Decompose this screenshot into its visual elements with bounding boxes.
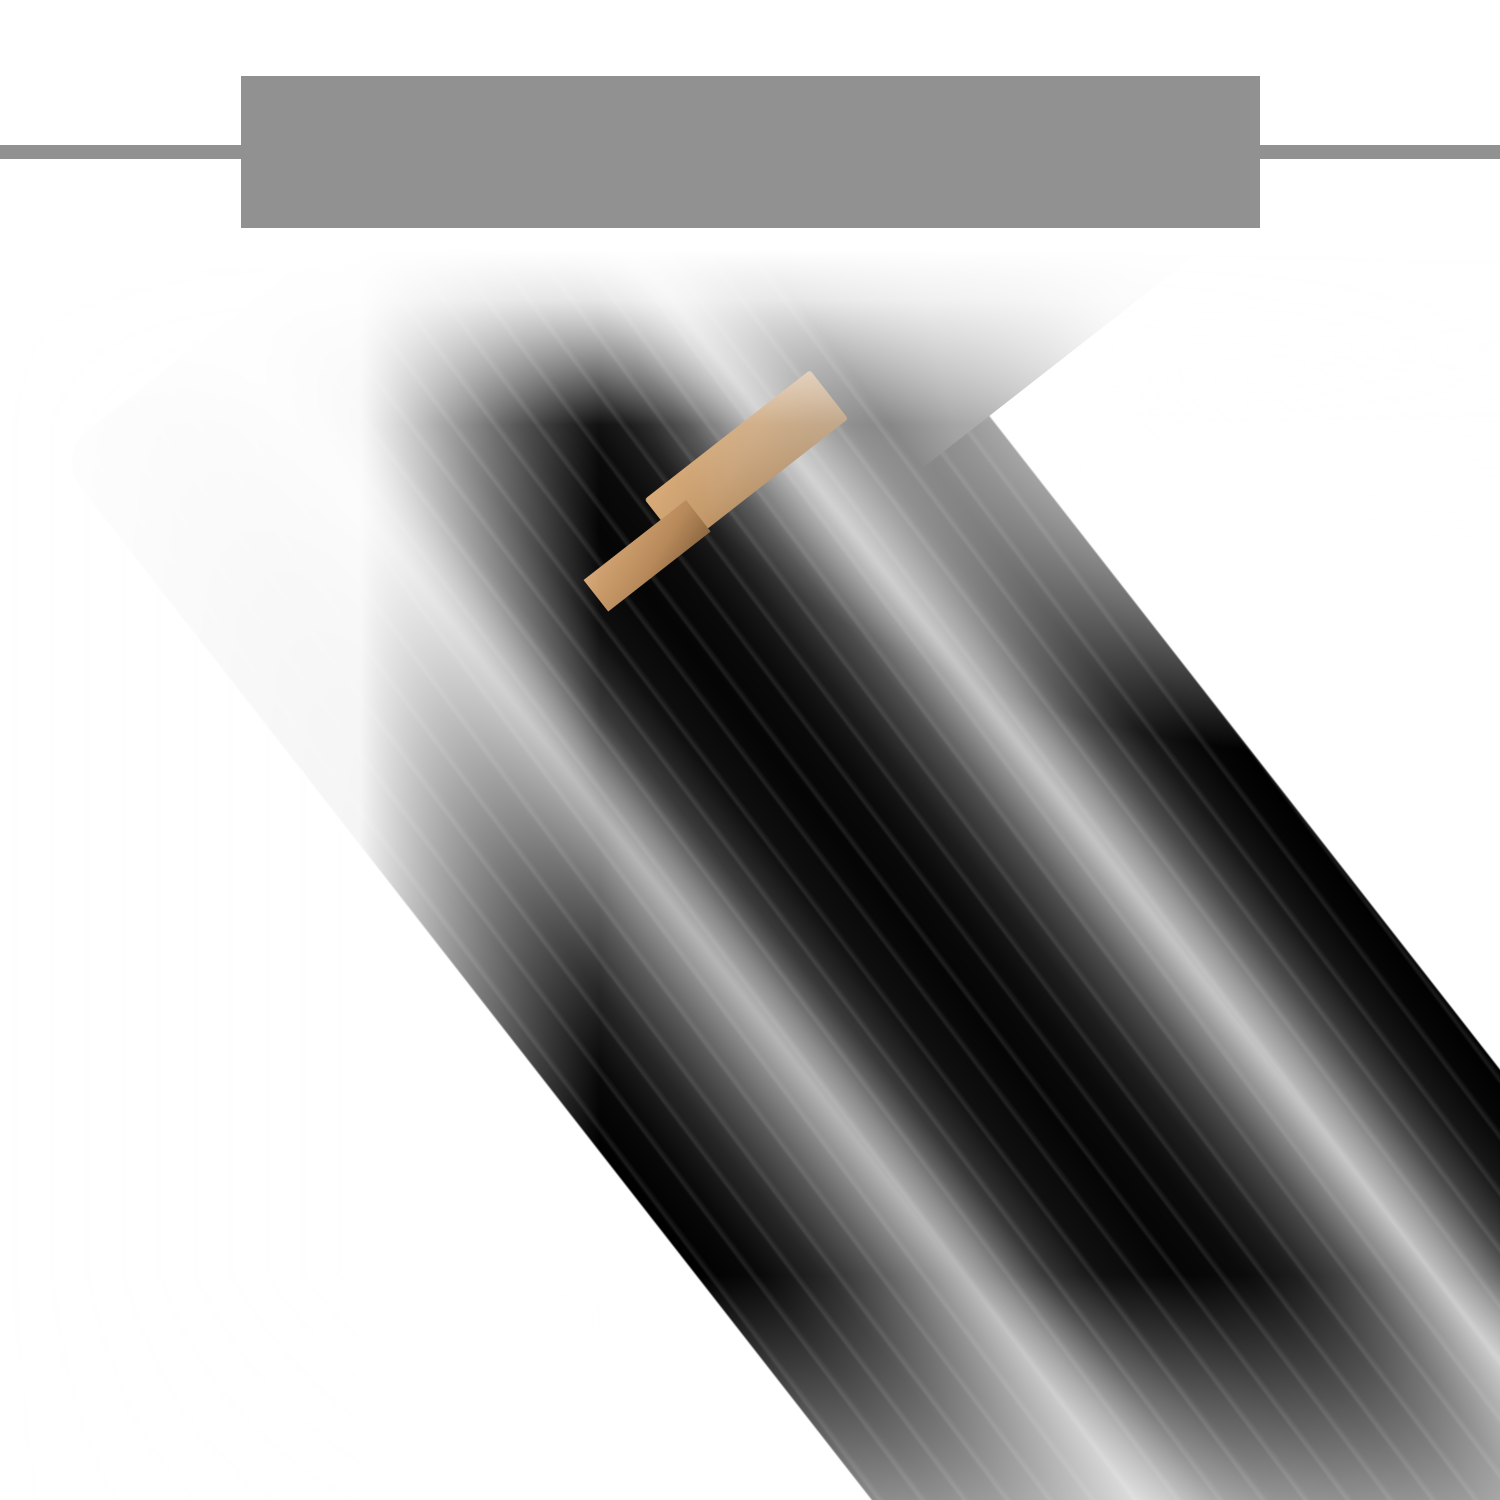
title-banner: [241, 76, 1260, 228]
header-rule-right: [1256, 145, 1500, 159]
header-rule-left: [0, 145, 245, 159]
header: [0, 0, 1500, 250]
